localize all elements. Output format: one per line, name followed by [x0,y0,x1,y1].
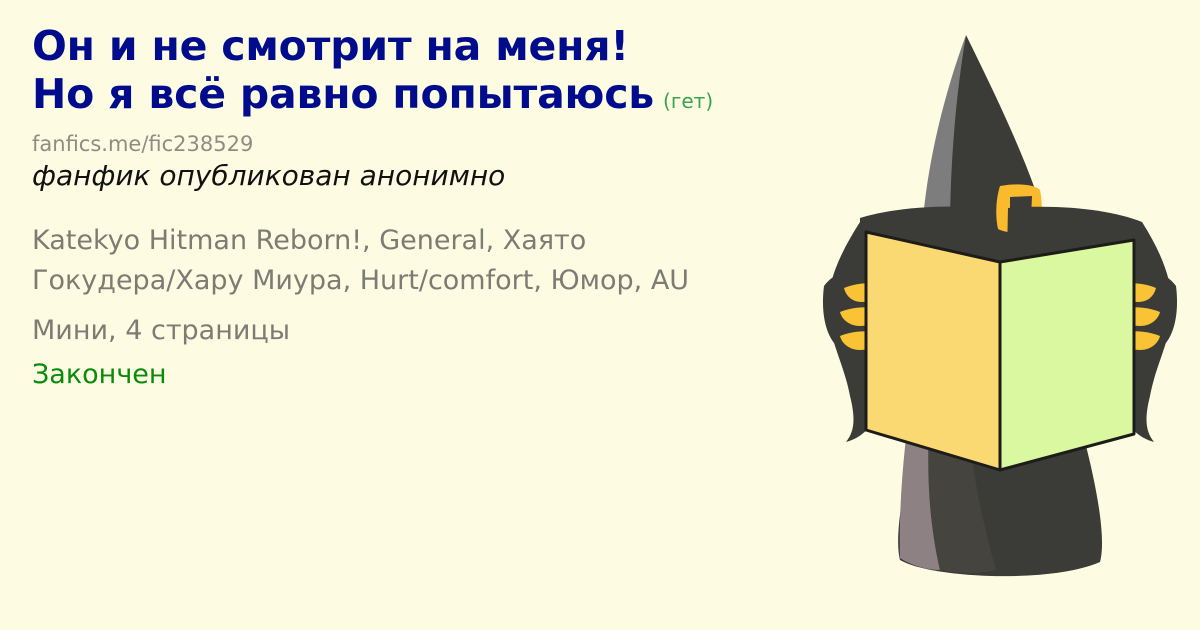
fic-status: Закончен [32,351,862,395]
right-hand-shape [1094,266,1177,355]
right-finger-3 [1114,331,1160,350]
wizard-robe [898,300,1102,576]
fic-rating-tag: (гет) [654,89,713,113]
hat-brim [896,222,1100,276]
fic-title-line-2-wrap: Но я всё равно попытаюсь(гет) [32,70,862,125]
fic-tags: Katekyo Hitman Reborn!, General, Хаято Г… [32,221,732,301]
wizard-arms [860,206,1142,300]
right-finger-2 [1114,307,1160,326]
fanfic-text-column: Он и не смотрит на меня! Но я всё равно … [32,0,862,395]
fic-title: Он и не смотрит на меня! Но я всё равно … [32,0,862,125]
hat-cone [950,35,1048,232]
right-shoulder [1006,207,1142,300]
robe-midtone [928,320,996,573]
book-page-left [866,232,1000,470]
robe-body [898,300,1102,576]
right-hand [1094,220,1177,442]
buckle-hole [1010,196,1032,220]
fic-url[interactable]: fanfics.me/fic238529 [32,125,862,157]
fic-meta-block: Katekyo Hitman Reborn!, General, Хаято Г… [32,193,862,395]
fic-title-line-1: Он и не смотрит на меня! [32,22,862,70]
hat-buckle [996,184,1041,232]
robe-highlight [900,330,946,570]
right-finger-1 [1112,283,1156,302]
right-sleeve [1110,220,1172,442]
hat-highlight-stripe [922,35,966,232]
buckle-frame [996,184,1041,232]
book-page-right [1000,240,1134,470]
fic-author-byline: фанфик опубликован анонимно [32,157,862,193]
fic-size: Мини, 4 страницы [32,301,862,351]
wizard-hat [896,35,1100,276]
left-shoulder [860,206,996,300]
fic-title-line-2: Но я всё равно попытаюсь [32,70,654,118]
fanfic-share-card: Он и не смотрит на меня! Но я всё равно … [0,0,1200,630]
